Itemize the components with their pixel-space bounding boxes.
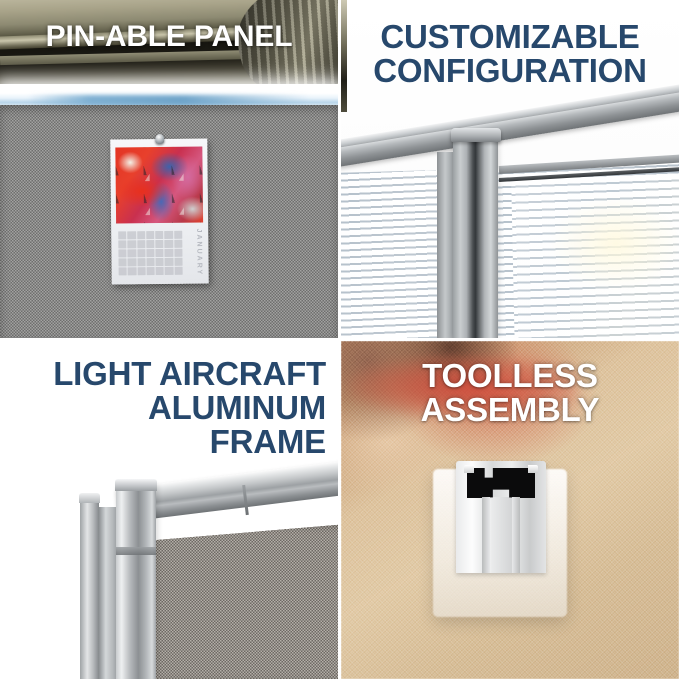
window-daylight-glow (551, 196, 679, 291)
feature-grid-page: JANUARY PIN-ABLE PANEL CUSTOMIZABLE CONF… (0, 0, 679, 679)
calendar-artwork (115, 147, 203, 224)
profile-shaft-shading (490, 497, 512, 573)
panel-customizable-configuration: CUSTOMIZABLE CONFIGURATION (341, 0, 679, 338)
panel-toolless-assembly: TOOLLESS ASSEMBLY (341, 341, 679, 679)
panel-light-aircraft-aluminum-frame: LIGHT AIRCRAFT ALUMINUM FRAME (0, 341, 338, 679)
aluminum-corner-post-cap (115, 479, 157, 491)
calendar-month-label: JANUARY (195, 229, 202, 277)
caption-toolless-assembly: TOOLLESS ASSEMBLY (345, 359, 675, 427)
calendar-date-grid (118, 231, 182, 276)
corner-post (453, 134, 498, 338)
aluminum-corner-post (116, 485, 156, 679)
profile-lip-right (528, 465, 538, 473)
aluminum-post-outer-cap (79, 493, 100, 503)
pinned-wall-calendar: JANUARY (110, 138, 209, 284)
post-cap (451, 128, 501, 142)
aluminum-post-outer (80, 499, 99, 679)
push-pin-icon (155, 134, 164, 144)
panel-pin-able-panel: JANUARY PIN-ABLE PANEL (0, 0, 338, 338)
frame-corner-joint (116, 547, 156, 555)
caption-customizable-configuration: CUSTOMIZABLE CONFIGURATION (345, 20, 675, 88)
profile-web-left (482, 497, 490, 573)
caption-pin-able-panel: PIN-ABLE PANEL (0, 22, 338, 53)
extruded-aluminum-profile (456, 461, 546, 573)
aluminum-post-middle (99, 507, 116, 679)
fabric-panel-infill (133, 523, 338, 679)
profile-lip-left (464, 465, 474, 473)
profile-web-right (512, 497, 520, 573)
caption-light-aircraft-aluminum-frame: LIGHT AIRCRAFT ALUMINUM FRAME (8, 357, 326, 459)
